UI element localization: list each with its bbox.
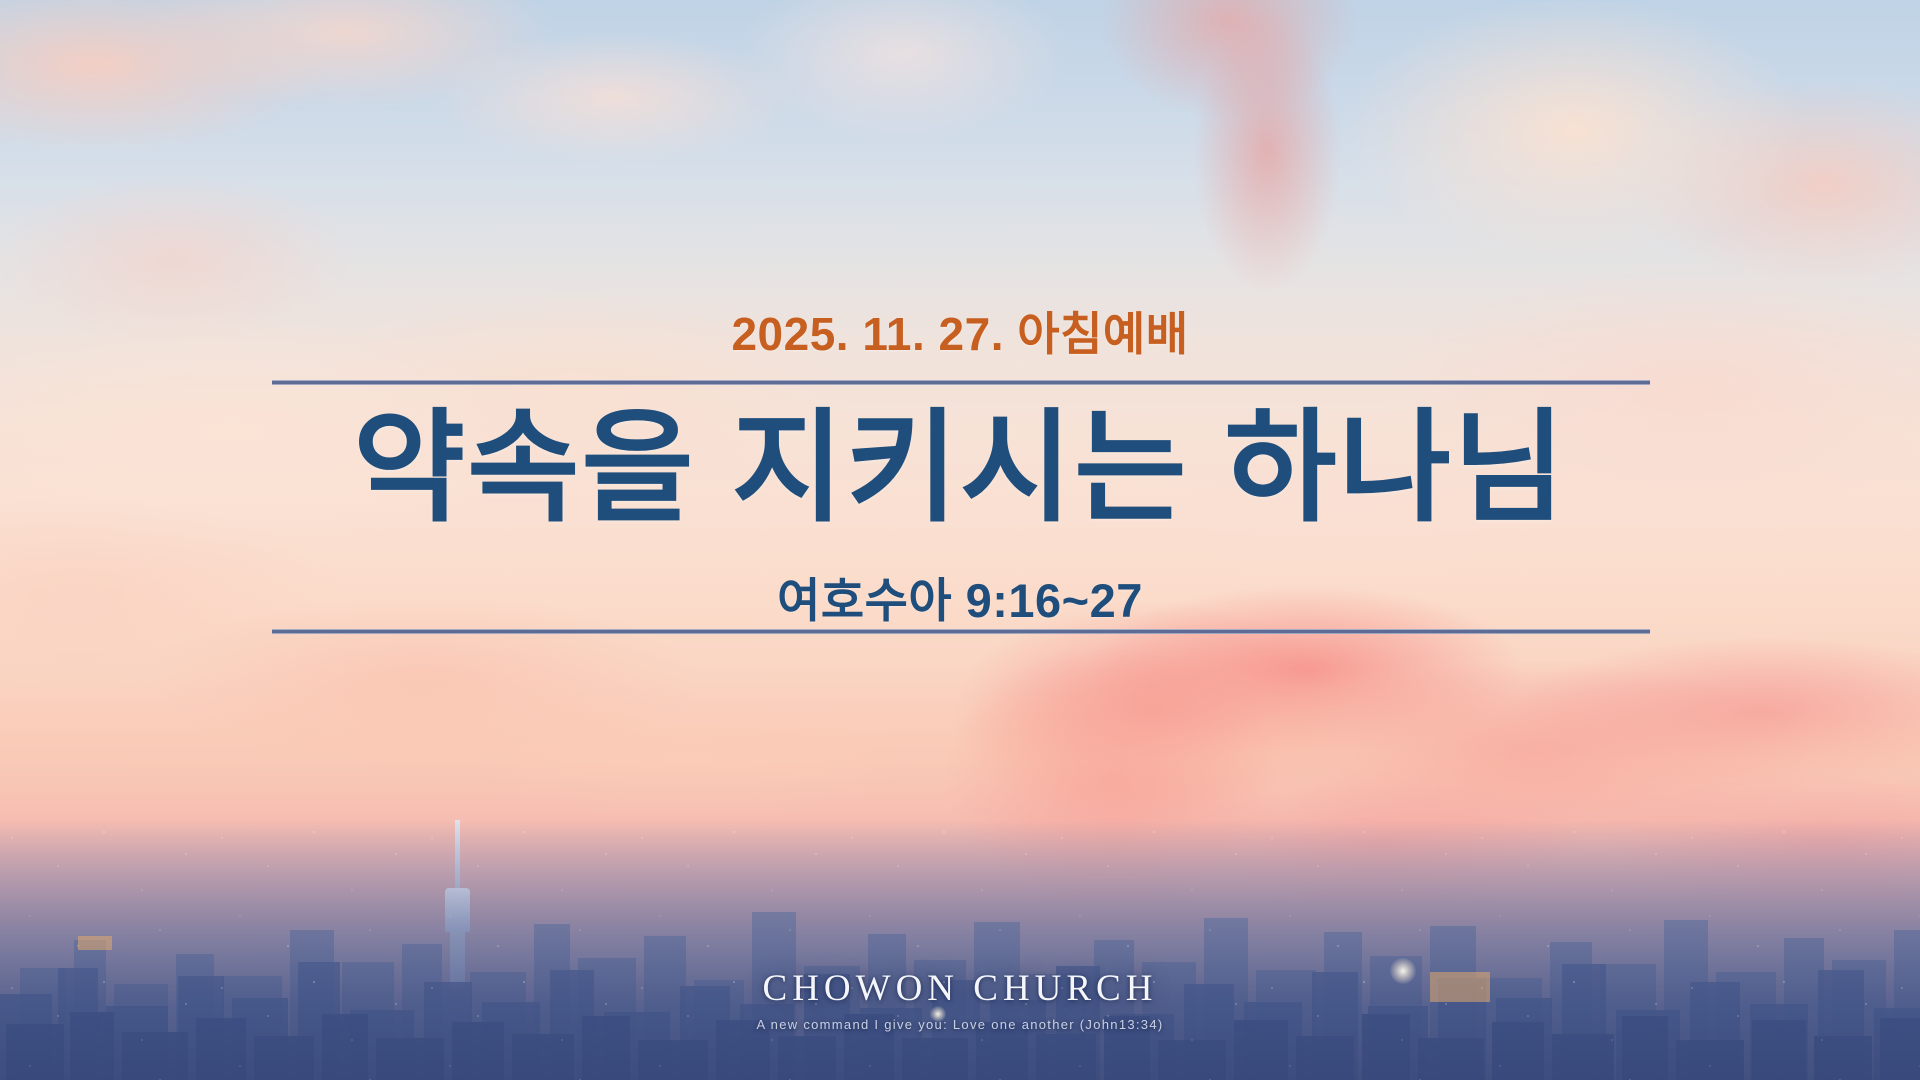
divider-line-bottom (272, 629, 1650, 634)
window-lights (0, 820, 1920, 1080)
sermon-title: 약속을 지키시는 하나님 (0, 398, 1920, 538)
divider-line-top (272, 380, 1650, 385)
city-skyline (0, 820, 1920, 1080)
church-name: CHOWON CHURCH (0, 969, 1920, 1010)
service-date: 2025. 11. 27. 아침예배 (0, 298, 1920, 364)
sermon-title-slide: 2025. 11. 27. 아침예배 약속을 지키시는 하나님 여호수아 9:1… (0, 0, 1920, 1080)
church-logo: CHOWON CHURCH A new command I give you: … (0, 969, 1920, 1032)
church-tagline: A new command I give you: Love one anoth… (0, 1017, 1920, 1032)
illuminated-sign (78, 936, 112, 950)
scripture-reference: 여호수아 9:16~27 (0, 562, 1920, 631)
